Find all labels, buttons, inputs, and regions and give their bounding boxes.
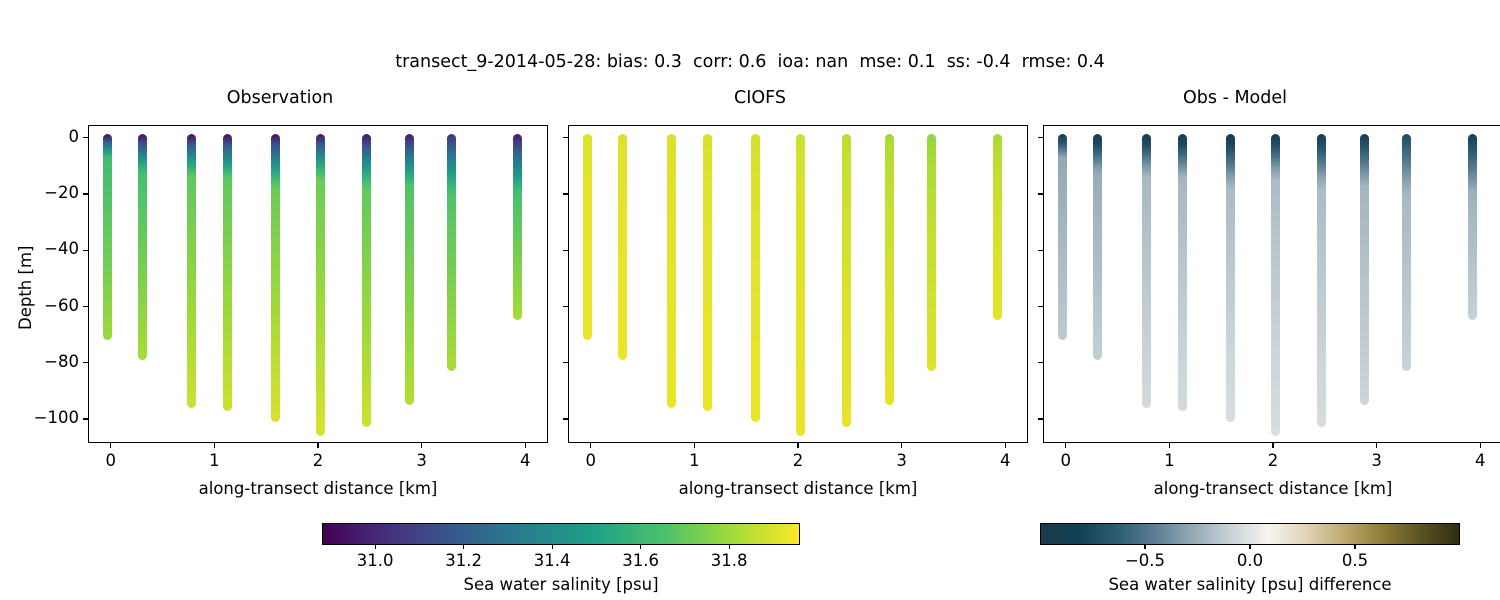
ctd-cast-profile <box>187 134 196 408</box>
colorbar-difference-gradient[interactable] <box>1040 523 1460 545</box>
ctd-cast-profile <box>842 134 851 427</box>
y-tick-mark <box>1038 418 1043 419</box>
ctd-cast-profile <box>138 134 147 360</box>
colorbar-difference-label: Sea water salinity [psu] difference <box>1040 575 1460 594</box>
ctd-cast-profile <box>583 134 592 340</box>
ctd-cast-profile <box>405 134 414 405</box>
x-tick-mark <box>110 443 111 448</box>
y-tick-mark <box>83 362 88 363</box>
y-tick-mark <box>563 250 568 251</box>
ctd-cast-profile <box>103 134 112 340</box>
y-tick-mark <box>1038 306 1043 307</box>
plot-area-difference[interactable] <box>1043 125 1500 443</box>
y-tick-mark <box>563 193 568 194</box>
ctd-cast-profile <box>362 134 371 427</box>
ctd-cast-profile <box>316 134 325 436</box>
x-tick-label: 2 <box>1243 451 1303 470</box>
x-tick-label: 1 <box>664 451 724 470</box>
ctd-cast-profile <box>618 134 627 360</box>
x-tick-label: 0 <box>561 451 621 470</box>
x-tick-mark <box>421 443 422 448</box>
plot-area-observation[interactable] <box>88 125 548 443</box>
ctd-cast-profile <box>1058 134 1067 340</box>
y-tick-mark <box>83 137 88 138</box>
y-tick-mark <box>1038 137 1043 138</box>
ctd-cast-profile <box>1402 134 1411 371</box>
ctd-cast-profile <box>927 134 936 371</box>
ctd-cast-profile <box>667 134 676 408</box>
panel-observation-title: Observation <box>0 88 560 108</box>
panel-observation: Observation Depth [m] along-transect dis… <box>0 88 560 468</box>
x-tick-mark <box>797 443 798 448</box>
y-tick-label: −40 <box>8 239 79 258</box>
y-tick-mark <box>1038 193 1043 194</box>
y-tick-mark <box>563 418 568 419</box>
x-tick-mark <box>1376 443 1377 448</box>
y-tick-mark <box>83 418 88 419</box>
x-tick-mark <box>214 443 215 448</box>
x-tick-mark <box>590 443 591 448</box>
ctd-cast-profile <box>223 134 232 410</box>
ctd-cast-profile <box>796 134 805 436</box>
x-tick-mark <box>1272 443 1273 448</box>
figure-canvas: transect_9-2014-05-28: bias: 0.3 corr: 0… <box>0 0 1500 600</box>
y-tick-mark <box>1038 250 1043 251</box>
panel-difference-title: Obs - Model <box>955 88 1500 108</box>
y-tick-mark <box>83 193 88 194</box>
x-tick-label: 2 <box>768 451 828 470</box>
x-tick-label: 4 <box>1450 451 1500 470</box>
y-tick-mark <box>563 306 568 307</box>
panel-difference: Obs - Model along-transect distance [km]… <box>955 88 1500 468</box>
x-tick-mark <box>694 443 695 448</box>
x-tick-mark <box>901 443 902 448</box>
axis-label-distance-difference: along-transect distance [km] <box>1043 479 1500 498</box>
y-tick-label: 0 <box>8 127 79 146</box>
ctd-cast-profile <box>1271 134 1280 436</box>
ctd-cast-profile <box>1142 134 1151 408</box>
x-tick-label: 1 <box>184 451 244 470</box>
x-tick-label: 2 <box>288 451 348 470</box>
y-tick-label: −100 <box>8 408 79 427</box>
axis-label-distance-model: along-transect distance [km] <box>568 479 1028 498</box>
y-tick-mark <box>1038 362 1043 363</box>
x-tick-mark <box>317 443 318 448</box>
ctd-cast-profile <box>703 134 712 410</box>
ctd-cast-profile <box>1093 134 1102 360</box>
x-tick-label: 3 <box>392 451 452 470</box>
x-tick-mark <box>1480 443 1481 448</box>
ctd-cast-profile <box>885 134 894 405</box>
ctd-cast-profile <box>1317 134 1326 427</box>
x-tick-mark <box>1065 443 1066 448</box>
colorbar-tick-mark <box>1144 545 1145 549</box>
x-tick-label: 0 <box>81 451 141 470</box>
x-tick-label: 1 <box>1139 451 1199 470</box>
colorbar-tick-mark <box>1354 545 1355 549</box>
ctd-cast-profile <box>1178 134 1187 410</box>
ctd-cast-profile <box>1226 134 1235 422</box>
ctd-cast-profile <box>1360 134 1369 405</box>
axis-label-distance-observation: along-transect distance [km] <box>88 479 548 498</box>
y-tick-label: −80 <box>8 352 79 371</box>
colorbar-tick-label: −0.5 <box>1100 551 1190 570</box>
colorbar-difference: Sea water salinity [psu] difference −0.5… <box>0 515 1500 600</box>
y-tick-mark <box>83 306 88 307</box>
ctd-cast-profile <box>271 134 280 422</box>
x-tick-mark <box>1169 443 1170 448</box>
x-tick-label: 0 <box>1036 451 1096 470</box>
y-tick-mark <box>563 137 568 138</box>
colorbar-tick-label: 0.0 <box>1205 551 1295 570</box>
x-tick-label: 3 <box>872 451 932 470</box>
x-tick-label: 3 <box>1347 451 1407 470</box>
colorbar-tick-label: 0.5 <box>1310 551 1400 570</box>
y-tick-label: −20 <box>8 183 79 202</box>
y-tick-mark <box>563 362 568 363</box>
y-tick-label: −60 <box>8 296 79 315</box>
colorbar-tick-mark <box>1249 545 1250 549</box>
ctd-cast-profile <box>447 134 456 371</box>
ctd-cast-profile <box>751 134 760 422</box>
suptitle-line-stats: transect_9-2014-05-28: bias: 0.3 corr: 0… <box>0 50 1500 75</box>
y-tick-mark <box>83 250 88 251</box>
ctd-cast-profile <box>1468 134 1477 320</box>
